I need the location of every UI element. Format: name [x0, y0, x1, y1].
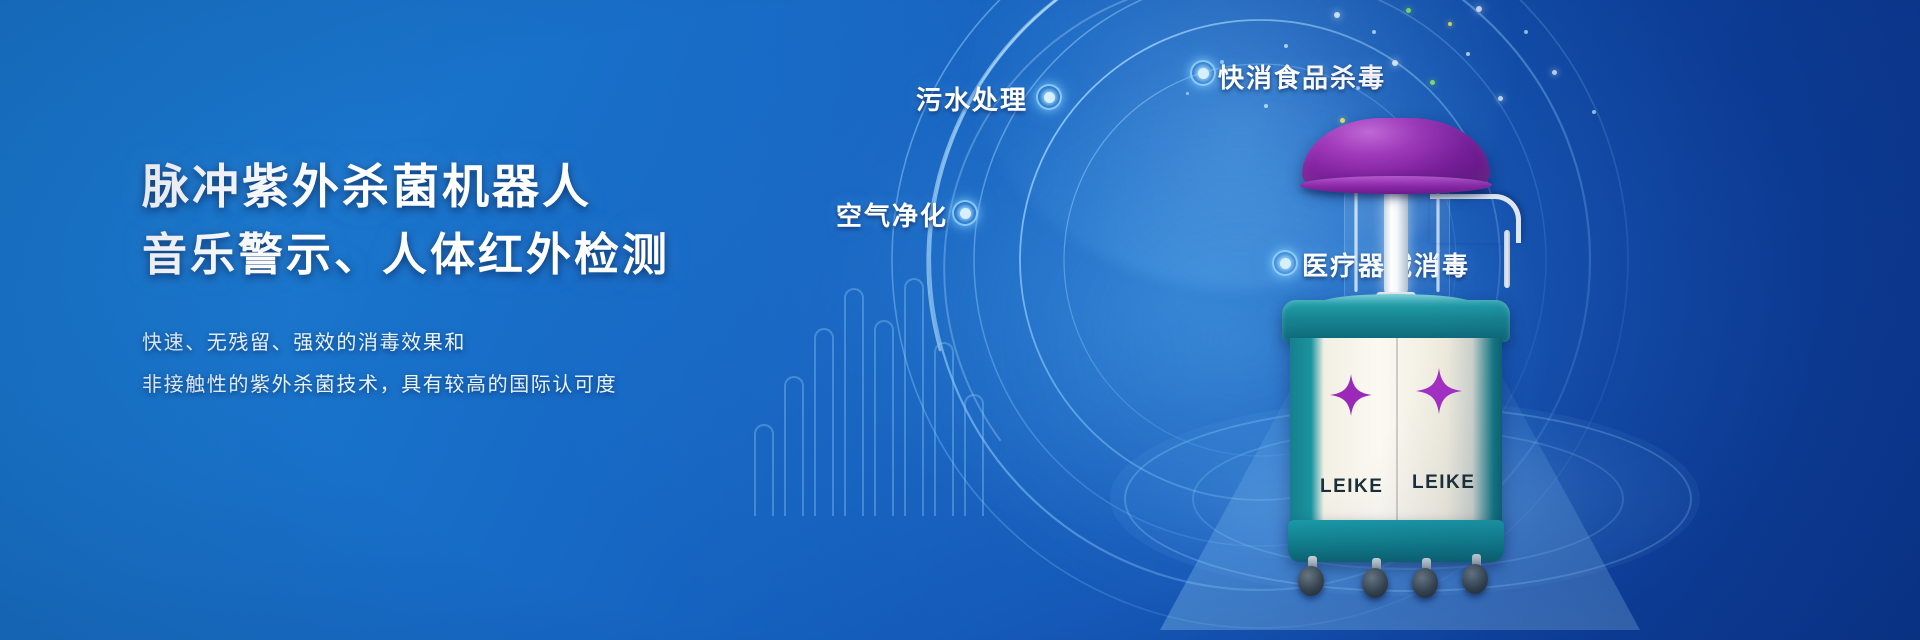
uv-lamp-core — [1384, 188, 1408, 296]
headline-copy-block: 脉冲紫外杀菌机器人 音乐警示、人体红外检测 快速、无残留、强效的消毒效果和 非接… — [142, 152, 670, 406]
brand-text-left: LEIKE — [1320, 476, 1383, 498]
sound-waveform-decoration — [752, 256, 1012, 516]
promo-banner: 污水处理 空气净化 快消食品杀毒 医疗器械消毒 LEIK — [0, 0, 1920, 640]
particle-dot — [1430, 80, 1435, 85]
uv-disinfection-robot-illustration: LEIKE LEIKE — [1266, 118, 1526, 588]
caster-wheel — [1462, 564, 1488, 594]
particle-dot — [1524, 30, 1528, 34]
chassis-top-cap — [1282, 300, 1510, 342]
particle-dot — [1476, 6, 1482, 12]
particle-dot — [1406, 8, 1411, 13]
caster-wheel — [1362, 568, 1388, 598]
node-marker-wastewater — [1036, 84, 1062, 110]
headline-line-1: 脉冲紫外杀菌机器人 — [142, 152, 670, 222]
particle-dot — [1284, 44, 1288, 48]
subtitle-block: 快速、无残留、强效的消毒效果和 非接触性的紫外杀菌技术，具有较高的国际认可度 — [142, 322, 670, 406]
node-marker-air — [952, 200, 978, 226]
feature-label-fmcg-food-sterilization[interactable]: 快消食品杀毒 — [1218, 58, 1386, 95]
particle-dot — [1592, 110, 1596, 114]
particle-dot — [1334, 12, 1340, 18]
panel-seam — [1396, 338, 1398, 526]
particle-dot — [1264, 104, 1268, 108]
particle-dot — [1448, 22, 1452, 26]
brand-text-right: LEIKE — [1412, 472, 1475, 494]
particle-dot — [1186, 92, 1189, 95]
particle-dot — [1552, 70, 1557, 75]
lamp-rod-left — [1354, 192, 1358, 292]
push-handle-stem — [1504, 230, 1510, 288]
dome-rim — [1300, 176, 1492, 194]
caster-wheel — [1298, 566, 1324, 596]
feature-label-air-purification[interactable]: 空气净化 — [836, 196, 948, 233]
node-marker-food — [1190, 60, 1216, 86]
subtitle-line-2: 非接触性的紫外杀菌技术，具有较高的国际认可度 — [142, 364, 670, 406]
caster-wheel — [1412, 568, 1438, 598]
particle-dot — [1372, 30, 1376, 34]
particle-dot — [1498, 96, 1503, 101]
headline-line-2: 音乐警示、人体红外检测 — [142, 222, 670, 289]
feature-label-wastewater-treatment[interactable]: 污水处理 — [916, 80, 1028, 117]
particle-dot — [1466, 52, 1470, 56]
particle-dot — [1392, 60, 1398, 66]
subtitle-line-1: 快速、无残留、强效的消毒效果和 — [142, 322, 670, 364]
